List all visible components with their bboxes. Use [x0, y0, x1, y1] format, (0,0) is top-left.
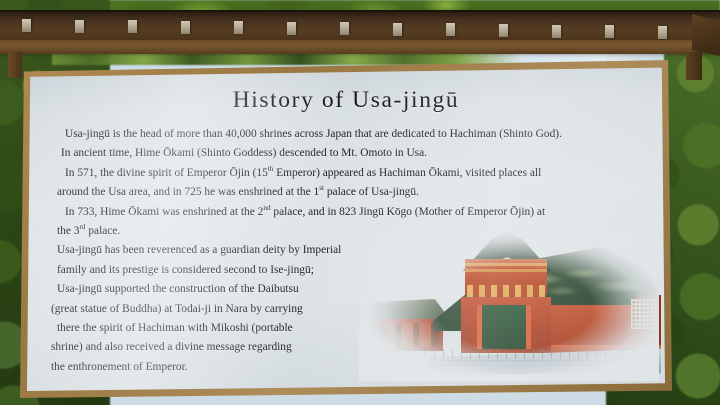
rafter-block [446, 23, 455, 36]
shrine-fence [425, 349, 651, 359]
body-line-part: palace, and in 823 Jingū Kōgo (Mother of… [271, 206, 546, 218]
rafter-block [22, 19, 31, 32]
sign-frame: History of Usa-jingū Usa-jingū is the he… [20, 60, 672, 398]
body-line: Usa-jingū is the head of more than 40,00… [51, 125, 655, 144]
body-line: In 571, the divine spirit of Emperor Ōji… [51, 164, 655, 183]
rafter-block [552, 25, 561, 38]
rafter-block [605, 25, 614, 38]
rafter-block [393, 23, 402, 36]
body-line-part: Emperor) appeared as Hachiman Ōkami, vis… [273, 167, 541, 179]
body-line-part: In 733, Hime Ōkami was enshrined at the … [65, 206, 263, 218]
support-post-right [686, 52, 702, 80]
shrine-wing-columns [369, 323, 439, 347]
rafter-block [658, 26, 667, 39]
ordinal-suffix: nd [263, 204, 270, 212]
sign-panel: History of Usa-jingū Usa-jingū is the he… [27, 67, 665, 391]
body-line-part: palace of Usa-jingū. [324, 186, 419, 198]
rafter-block [499, 24, 508, 37]
page-title: History of Usa-jingū [27, 87, 665, 114]
paragraph-2: In 571, the divine spirit of Emperor Ōji… [51, 164, 655, 203]
rafter-block-row [0, 19, 720, 32]
body-line-part: the 3 [57, 225, 79, 237]
body-line-part: palace. [85, 225, 120, 237]
rafter-block [340, 22, 349, 35]
shrine-lattice-window [631, 299, 657, 329]
body-line-part: In 571, the divine spirit of Emperor Ōji… [65, 167, 268, 179]
support-post-left [8, 52, 22, 78]
shrine-photo [359, 229, 659, 381]
shrine-gate-beams [465, 263, 547, 277]
rafter-block [128, 20, 137, 33]
rafter-block [287, 22, 296, 35]
body-line: around the Usa area, and in 725 he was e… [51, 183, 655, 202]
rafter-block [181, 21, 190, 34]
shrine-gate-door [477, 305, 531, 349]
rafter-block [75, 20, 84, 33]
rafter-block [234, 21, 243, 34]
signboard-scene: History of Usa-jingū Usa-jingū is the he… [0, 0, 720, 405]
lower-beam [0, 40, 720, 54]
body-line: In ancient time, Hime Ōkami (Shinto Godd… [51, 144, 655, 163]
paragraph-1: Usa-jingū is the head of more than 40,00… [51, 125, 655, 164]
body-line: In 733, Hime Ōkami was enshrined at the … [51, 203, 655, 222]
shrine-yellow-sign-text [363, 347, 391, 354]
body-line-part: around the Usa area, and in 725 he was e… [57, 186, 319, 198]
